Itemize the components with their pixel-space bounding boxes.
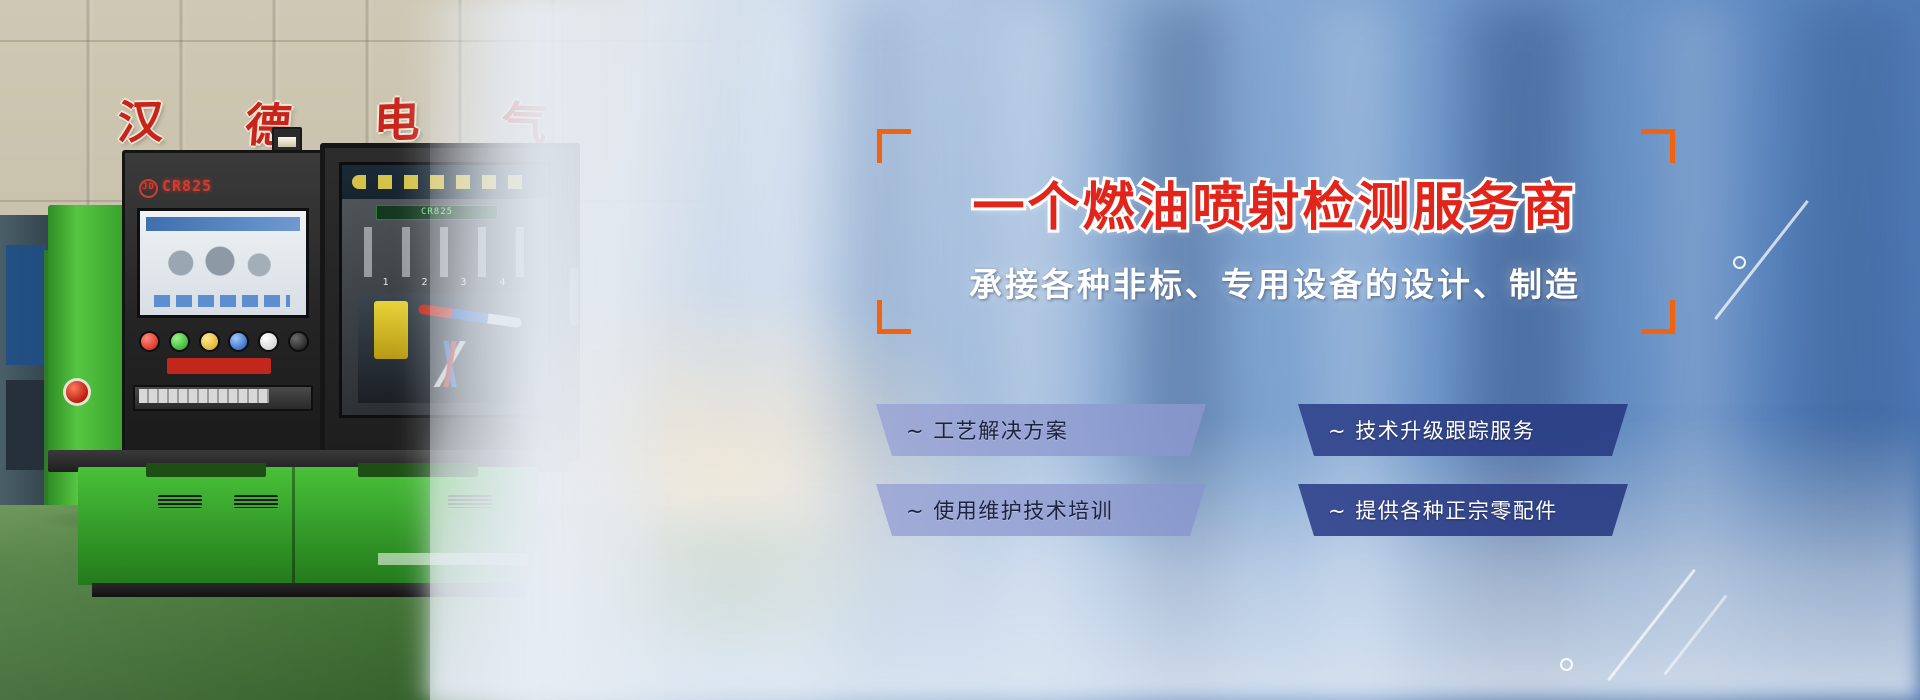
hero-banner: 汉 德 电 气 JDCR825 [0, 0, 1920, 700]
feature-chip-upgrade-service[interactable]: ~ 技术升级跟踪服务 [1298, 404, 1628, 456]
feature-chip-genuine-parts[interactable]: ~ 提供各种正宗零配件 [1298, 484, 1628, 536]
hero-headline: 一个燃油喷射检测服务商 [880, 165, 1670, 240]
feature-chip-process-solution[interactable]: ~ 工艺解决方案 [876, 404, 1206, 456]
feature-chip-training[interactable]: ~ 使用维护技术培训 [876, 484, 1206, 536]
hero-subheadline: 承接各种非标、专用设备的设计、制造 [880, 258, 1670, 306]
corner-bracket-top-right [1641, 129, 1675, 163]
corner-bracket-top-left [877, 129, 911, 163]
hero-content: 一个燃油喷射检测服务商 承接各种非标、专用设备的设计、制造 ~ 工艺解决方案 ~… [0, 0, 1920, 700]
